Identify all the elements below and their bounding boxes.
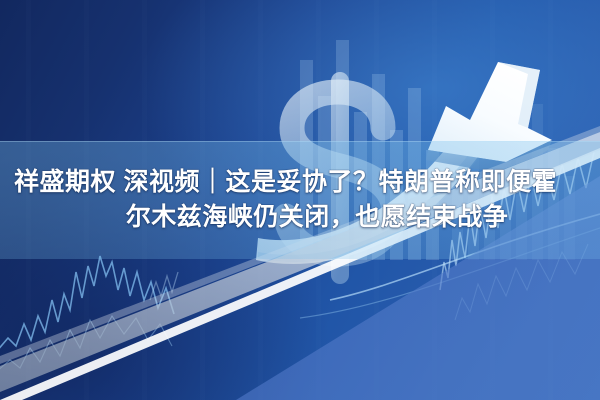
headline: 祥盛期权 深视频｜这是妥协了？特朗普称即便霍 尔木兹海峡仍关闭，也愿结束战争 bbox=[0, 141, 600, 259]
headline-line-1: 祥盛期权 深视频｜这是妥协了？特朗普称即便霍 bbox=[6, 168, 557, 198]
news-thumbnail-image: 祥盛期权 深视频｜这是妥协了？特朗普称即便霍 尔木兹海峡仍关闭，也愿结束战争 bbox=[0, 0, 600, 400]
headline-line-2: 尔木兹海峡仍关闭，也愿结束战争 bbox=[92, 203, 509, 233]
